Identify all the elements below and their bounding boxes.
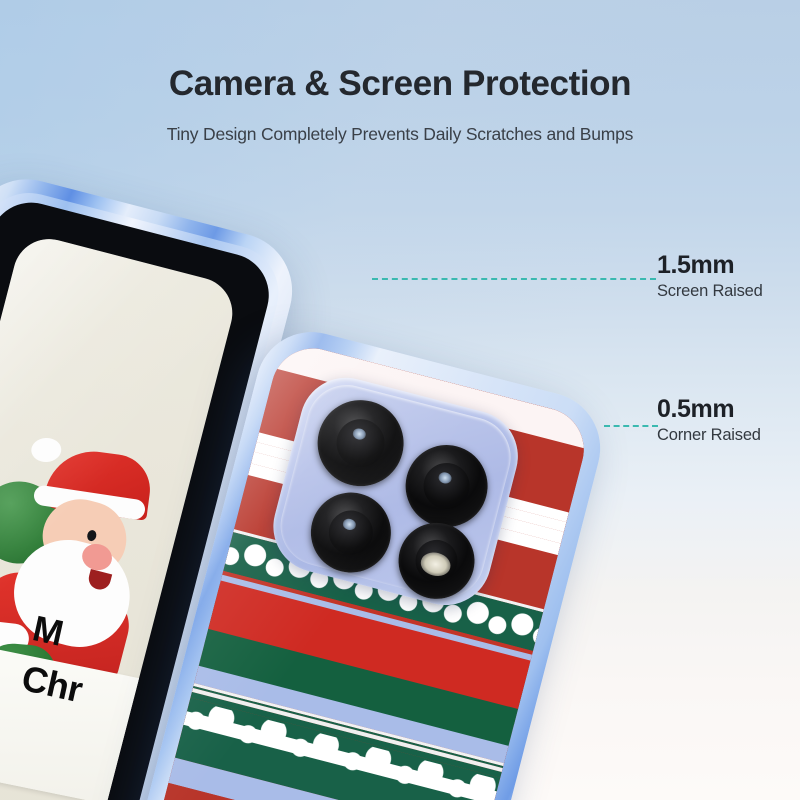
product-feature-banner: Camera & Screen Protection Tiny Design C… <box>0 0 800 800</box>
callout-screen-raised: 1.5mm Screen Raised <box>657 252 763 302</box>
leader-line-screen-raised <box>372 278 656 280</box>
callout-screen-value: 1.5mm <box>657 252 763 278</box>
callout-corner-raised: 0.5mm Corner Raised <box>657 396 761 446</box>
lens-glint-1 <box>351 427 367 441</box>
callout-corner-value: 0.5mm <box>657 396 761 422</box>
page-title: Camera & Screen Protection <box>0 64 800 104</box>
lens-glint-3 <box>342 518 357 531</box>
callout-corner-label: Corner Raised <box>657 425 761 446</box>
leader-line-corner-raised <box>604 425 658 427</box>
lens-glint-2 <box>438 471 453 485</box>
camera-flash-glow <box>418 550 453 580</box>
page-subtitle: Tiny Design Completely Prevents Daily Sc… <box>0 124 800 145</box>
santa-hat-pompom <box>31 437 62 463</box>
callout-screen-label: Screen Raised <box>657 281 763 302</box>
